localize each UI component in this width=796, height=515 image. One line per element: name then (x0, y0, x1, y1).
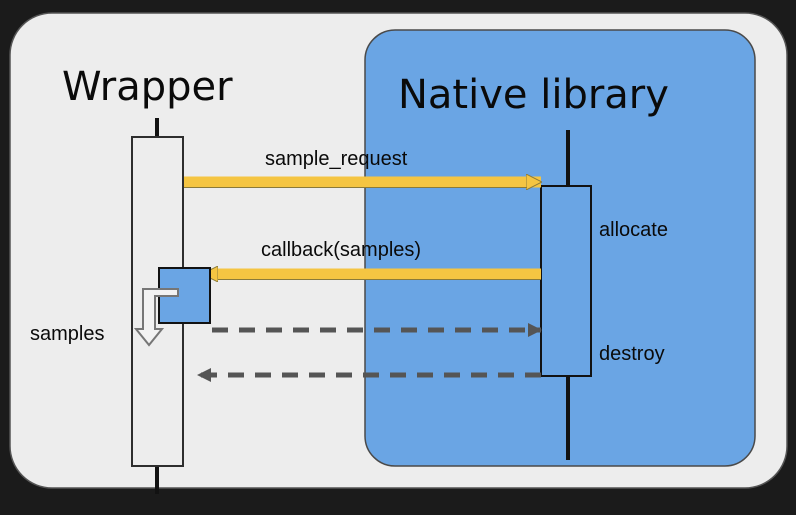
message-label-sample-request: sample_request (265, 148, 408, 170)
annotation-label-destroy: destroy (599, 343, 665, 365)
message-label-callback-samples: callback(samples) (261, 239, 421, 261)
wrapper-panel-title: Wrapper (62, 64, 233, 110)
annotation-label-samples: samples (30, 323, 104, 345)
native-activation-bar (541, 186, 591, 376)
annotation-label-allocate: allocate (599, 219, 668, 241)
native-library-panel-title: Native library (398, 72, 669, 118)
diagram-canvas: Wrapper Native library sample_request ca… (0, 0, 796, 515)
sequence-diagram-svg: Wrapper Native library sample_request ca… (0, 0, 796, 515)
